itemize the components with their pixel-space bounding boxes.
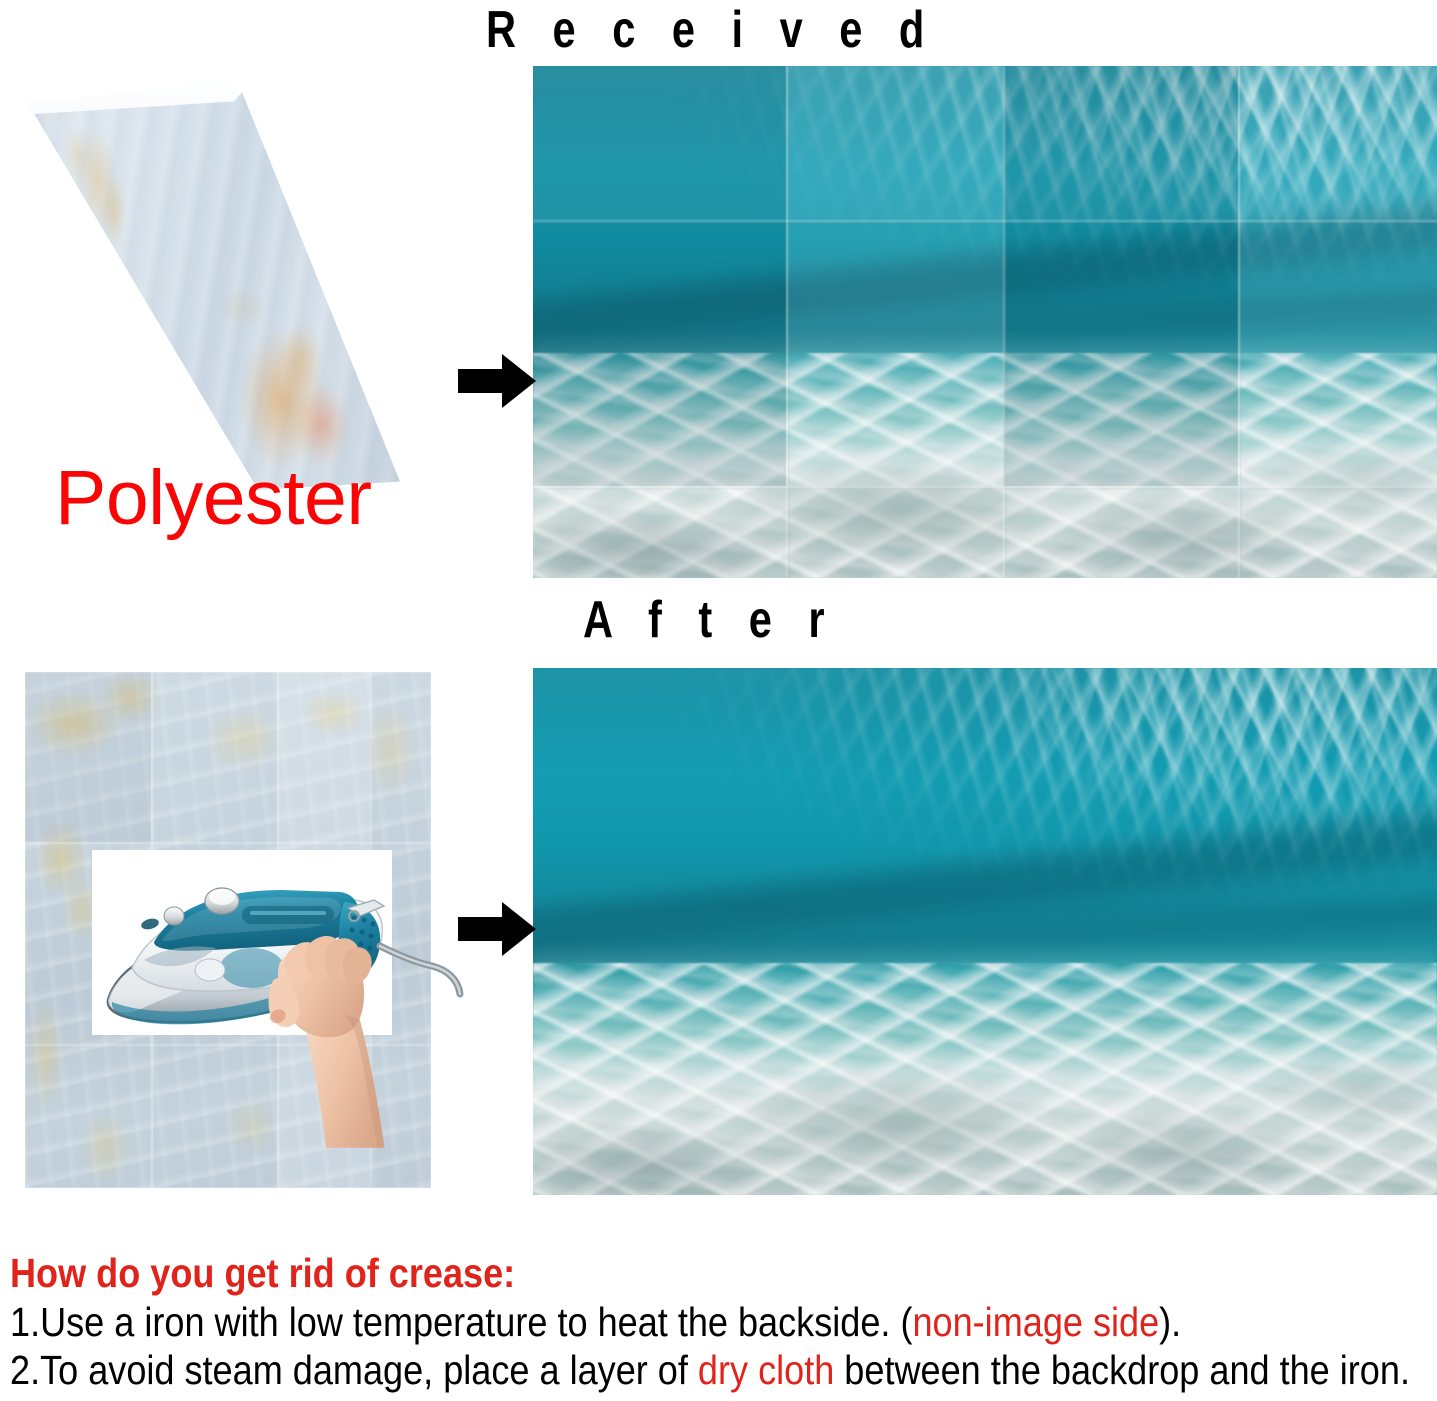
polyester-material-label: Polyester bbox=[55, 458, 371, 538]
after-backdrop-photo bbox=[533, 668, 1437, 1195]
iron-small-knob bbox=[164, 907, 184, 925]
instruction-2-suffix: between the backdrop and the iron. bbox=[834, 1347, 1410, 1393]
backside-panel-shading bbox=[25, 672, 151, 842]
iron-photo-card bbox=[92, 850, 392, 1035]
instruction-line-2: 2.To avoid steam damage, place a layer o… bbox=[10, 1346, 1266, 1394]
finger-pinky bbox=[343, 947, 372, 983]
instruction-2-prefix: 2.To avoid steam damage, place a layer o… bbox=[10, 1347, 698, 1393]
instruction-1-prefix: 1.Use a iron with low temperature to hea… bbox=[10, 1299, 912, 1345]
iron-dial-button bbox=[195, 959, 225, 981]
backside-crease-line bbox=[25, 842, 431, 844]
received-section-title: R e c e i v e d bbox=[486, 2, 934, 58]
sheet-shading bbox=[18, 72, 418, 492]
surface-ripples-bright bbox=[967, 668, 1437, 847]
after-section-title: A f t e r bbox=[518, 592, 902, 648]
hand-illustration bbox=[234, 908, 424, 1158]
rolled-polyester-sheet-photo bbox=[18, 72, 418, 492]
instruction-1-highlight: non-image side bbox=[912, 1299, 1159, 1345]
right-arrow-icon bbox=[458, 900, 536, 958]
knob-highlight bbox=[209, 889, 235, 905]
care-instructions: How do you get rid of crease: 1.Use a ir… bbox=[10, 1248, 1437, 1394]
instruction-1-suffix: ). bbox=[1159, 1299, 1181, 1345]
seabed-dapple bbox=[533, 963, 1437, 1195]
instruction-line-1: 1.Use a iron with low temperature to hea… bbox=[10, 1298, 1266, 1346]
instruction-2-highlight: dry cloth bbox=[698, 1347, 834, 1393]
instructions-heading: How do you get rid of crease: bbox=[10, 1248, 1266, 1298]
iron-indicator-slot bbox=[140, 917, 160, 931]
received-backdrop-photo bbox=[533, 66, 1437, 578]
crease-fold-overlay bbox=[533, 66, 1437, 578]
right-arrow-icon bbox=[458, 352, 536, 410]
